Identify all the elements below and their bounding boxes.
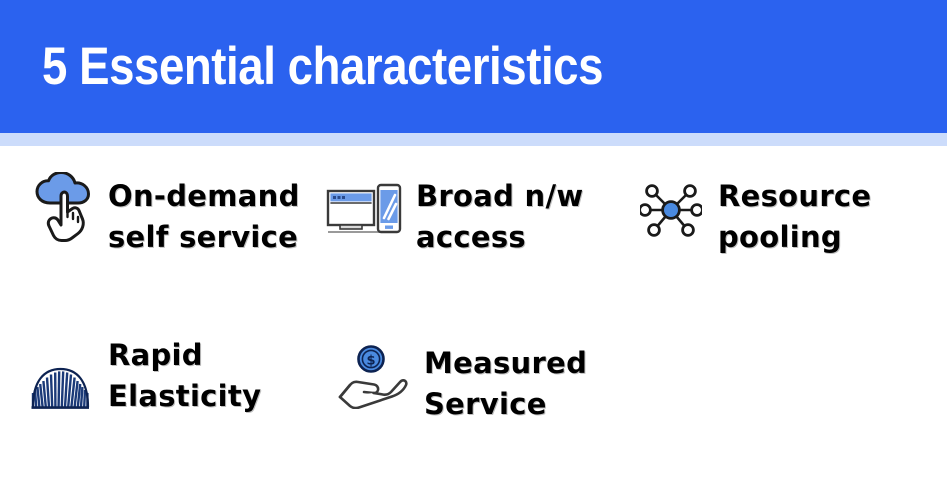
characteristic-measured-service[interactable]: $ Measured Service [320,341,640,425]
characteristic-broad-network-access[interactable]: Broad n/w access [320,170,640,258]
svg-text:$: $ [366,354,375,369]
header-underline-strip [0,133,947,146]
characteristics-grid: On-demand self service [0,146,947,499]
characteristic-label: Resource pooling [718,176,871,258]
monitor-smartphone-icon [326,170,402,238]
gauge-arch-icon [28,341,94,409]
characteristic-label: Broad n/w access [416,176,583,258]
characteristic-label: On-demand self service [108,176,300,258]
cloud-hand-pointer-icon [34,170,98,242]
characteristic-rapid-elasticity[interactable]: Rapid Elasticity [0,341,320,425]
hand-dollar-coin-icon: $ [334,341,410,409]
characteristics-row-bottom: Rapid Elasticity $ Measured Service [0,341,947,425]
characteristic-label: Rapid Elasticity [108,335,261,417]
characteristic-label: Measured Service [424,343,587,425]
characteristic-on-demand-self-service[interactable]: On-demand self service [0,170,320,258]
characteristic-resource-pooling[interactable]: Resource pooling [640,170,947,258]
characteristics-row-top: On-demand self service [0,170,947,258]
network-hub-nodes-icon [640,170,702,238]
header-banner: 5 Essential characteristics [0,0,947,133]
page-title: 5 Essential characteristics [42,40,603,93]
